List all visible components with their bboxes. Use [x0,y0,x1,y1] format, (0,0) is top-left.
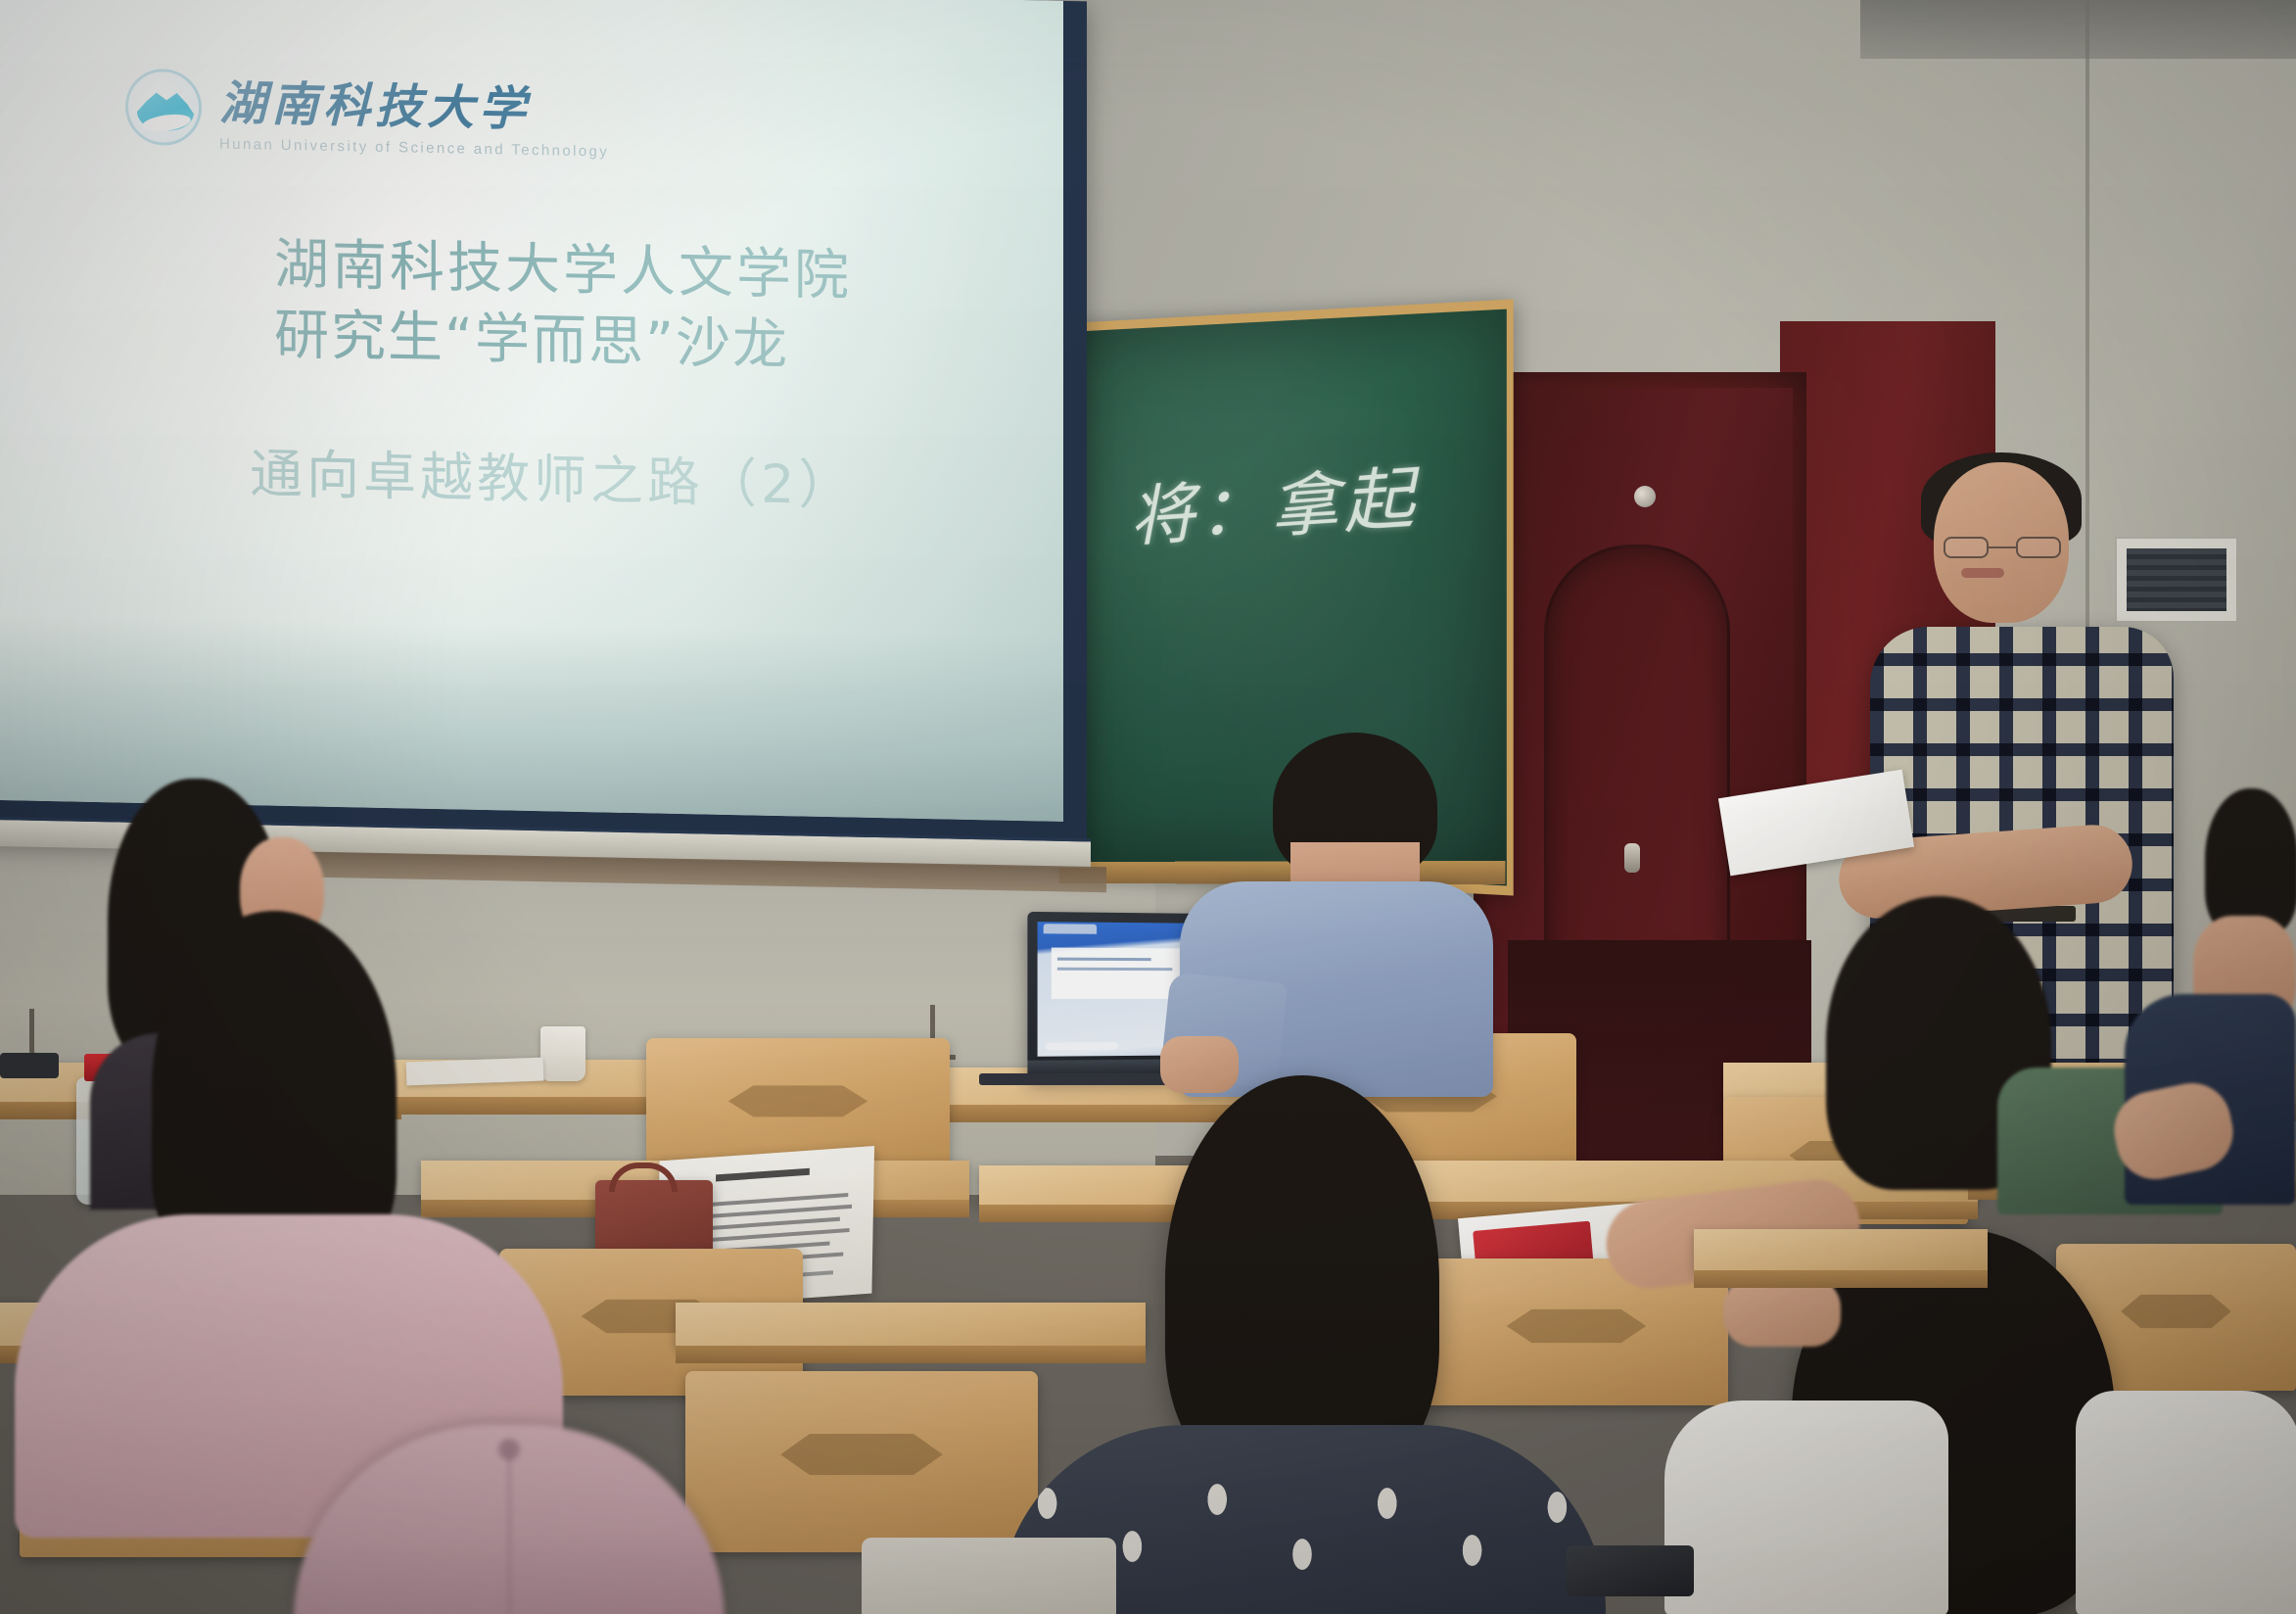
slide-title-line-2: 研究生“学而思”沙龙 [274,300,979,384]
paper-on-lap [862,1538,1116,1614]
paper-cup [540,1026,586,1081]
paper-stack [406,1058,544,1086]
attendee-hair [2205,788,2296,935]
attendee-top [1664,1400,1948,1614]
ceiling-edge [1860,0,2296,59]
laptop-window-tab [1044,924,1097,934]
university-logo-text: 湖南科技大学 Hunan University of Science and T… [219,65,609,161]
door-handle[interactable] [1624,843,1640,873]
presenter-glasses-icon [1944,537,2061,558]
laptop-text-line [1057,968,1172,971]
attendee-top [2076,1391,2296,1614]
classroom-scene: 将：拿起 湖南科技大学 Hunan University of Science … [0,0,2296,1614]
desk [1694,1229,1988,1272]
university-name-chinese: 湖南科技大学 [219,65,609,141]
projection-screen: 湖南科技大学 Hunan University of Science and T… [0,0,1087,863]
door-peephole-icon [1634,486,1656,507]
phone[interactable] [1567,1545,1694,1596]
projection-screen-surface: 湖南科技大学 Hunan University of Science and T… [0,0,1063,822]
slide-title: 湖南科技大学人文学院 研究生“学而思”沙龙 [274,230,979,385]
laptop-text-line [1057,958,1151,961]
chair [685,1371,1038,1552]
device-box [0,1053,59,1078]
laptop-taskbar [1046,1042,1118,1051]
cap-seam [508,1447,511,1614]
attendee-hand [1723,1278,1841,1347]
presenter-mouth [1961,568,2004,578]
handout-title-line [716,1168,810,1182]
university-logo: 湖南科技大学 Hunan University of Science and T… [125,63,609,161]
slide-subtitle: 通向卓越教师之路（2） [250,430,994,522]
desk [676,1303,1146,1348]
wall-vent [2115,537,2238,623]
university-logo-mark-icon [125,69,202,147]
attendee-hand [1160,1036,1239,1093]
